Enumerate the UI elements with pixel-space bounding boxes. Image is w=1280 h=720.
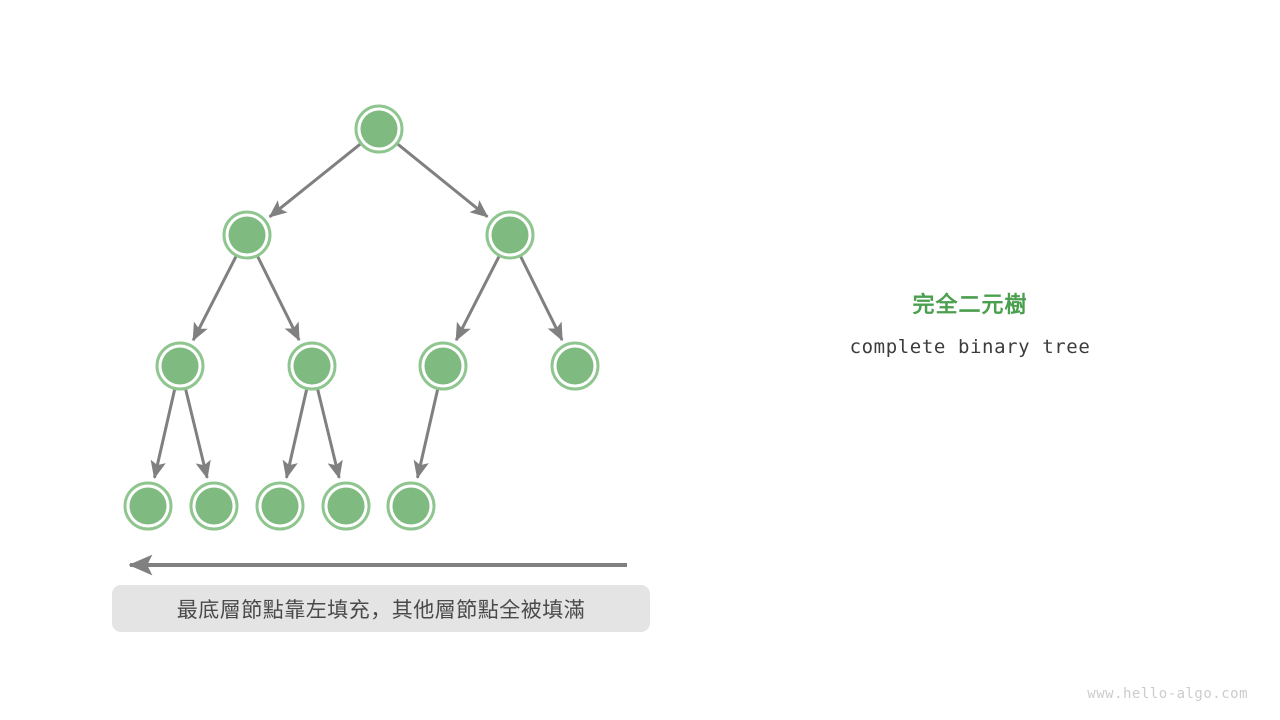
caption-text: 最底層節點靠左填充，其他層節點全被填滿 [177,594,586,624]
caption-box: 最底層節點靠左填充，其他層節點全被填滿 [112,585,650,632]
tree-node [157,343,203,389]
tree-edge [270,144,361,217]
diagram-canvas: 完全二元樹 complete binary tree 最底層節點靠左填充，其他層… [0,0,1280,720]
tree-edge [258,256,299,340]
tree-node [224,212,270,258]
tree-edge [417,389,437,477]
legend: 完全二元樹 complete binary tree [780,290,1160,358]
tree-nodes [125,106,598,529]
tree-node [323,483,369,529]
tree-node [257,483,303,529]
tree-node [420,343,466,389]
node-circle [492,217,529,254]
tree-node [388,483,434,529]
node-circle [361,111,398,148]
node-circle [328,488,365,525]
tree-edge [154,389,174,477]
tree-node [191,483,237,529]
tree-node [487,212,533,258]
node-circle [262,488,299,525]
tree-node [289,343,335,389]
node-circle [425,348,462,385]
tree-edge [398,144,488,217]
watermark: www.hello-algo.com [1087,686,1248,702]
tree-node [125,483,171,529]
node-circle [162,348,199,385]
tree-edge [286,389,306,477]
node-circle [294,348,331,385]
tree-edge [193,256,236,340]
tree-edge [318,389,339,477]
tree-node [552,343,598,389]
tree-node [356,106,402,152]
tree-edges [154,144,562,478]
node-circle [196,488,233,525]
node-circle [557,348,594,385]
tree-edge [186,389,207,477]
node-circle [393,488,430,525]
tree-edge [521,256,562,340]
legend-title: 完全二元樹 [780,290,1160,320]
legend-subtitle: complete binary tree [780,336,1160,358]
node-circle [229,217,266,254]
tree-edge [456,256,499,340]
node-circle [130,488,167,525]
